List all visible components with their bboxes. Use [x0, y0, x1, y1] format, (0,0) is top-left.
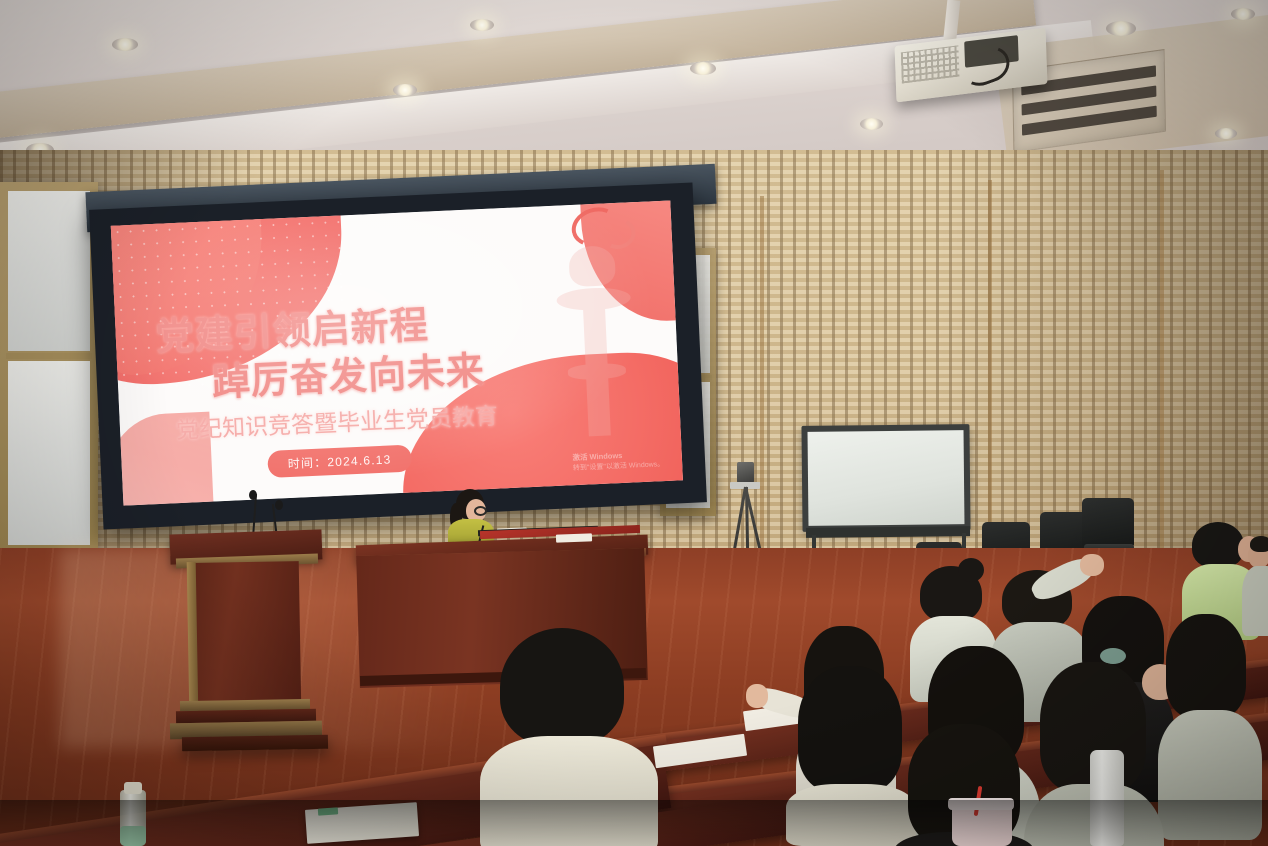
torso — [1242, 566, 1268, 636]
ceiling-downlight — [470, 19, 494, 31]
whiteboard-tray — [806, 526, 970, 538]
wall-seam — [988, 180, 992, 580]
table-papers — [556, 533, 592, 542]
hand — [1080, 554, 1104, 576]
window-mullion — [6, 353, 92, 359]
hair — [1250, 536, 1268, 552]
slide-title-line2: 踔厉奋发向未来 — [211, 339, 486, 406]
hair-long — [798, 666, 902, 792]
ceiling-downlight — [1215, 128, 1237, 139]
windows-activation-watermark: 激活 Windows 转到"设置"以激活 Windows。 — [572, 449, 664, 473]
slide-date-badge: 时间：2024.6.13 — [267, 445, 412, 478]
ceiling-downlight — [690, 62, 716, 75]
speaker-glasses — [474, 506, 487, 516]
hair-long — [1166, 614, 1246, 718]
wall-seam — [1160, 170, 1164, 550]
wall-seam — [760, 196, 764, 596]
frosted-glass-window — [0, 182, 98, 554]
projection-screen: 党建引领启新程 踔厉奋发向未来 党纪知识竞答暨毕业生党员教育 时间：2024.6… — [111, 200, 683, 505]
ceiling-downlight — [1231, 8, 1255, 20]
ceiling-downlight — [393, 84, 417, 96]
ceiling-downlight — [1106, 21, 1136, 36]
hair — [1192, 522, 1244, 568]
whiteboard-on-stand — [801, 424, 970, 532]
window-glass-upper — [8, 191, 90, 351]
hand — [746, 684, 768, 708]
presentation-slide: 党建引领启新程 踔厉奋发向未来 党纪知识竞答暨毕业生党员教育 时间：2024.6… — [111, 200, 683, 505]
bottle-cap — [124, 782, 142, 794]
camera-on-tripod — [737, 462, 754, 483]
desk-front-shadow — [0, 800, 1268, 846]
podium-foot — [182, 735, 328, 752]
window-glass-lower — [8, 361, 90, 545]
hair — [500, 628, 624, 746]
ceiling-downlight — [860, 118, 883, 130]
projection-screen-frame: 党建引领启新程 踔厉奋发向未来 党纪知识竞答暨毕业生党员教育 时间：2024.6… — [89, 182, 707, 529]
ceiling-downlight — [112, 38, 138, 51]
projector-vent-grill — [901, 45, 960, 83]
microphone-head — [249, 490, 257, 500]
speaker-podium-body — [191, 561, 302, 711]
huabiao-monument-icon — [554, 244, 637, 437]
whiteboard-surface — [808, 430, 965, 526]
hair-bun — [958, 558, 984, 582]
microphone-head — [275, 500, 283, 510]
conference-hall-photo: 党建引领启新程 踔厉奋发向未来 党纪知识竞答暨毕业生党员教育 时间：2024.6… — [0, 0, 1268, 846]
